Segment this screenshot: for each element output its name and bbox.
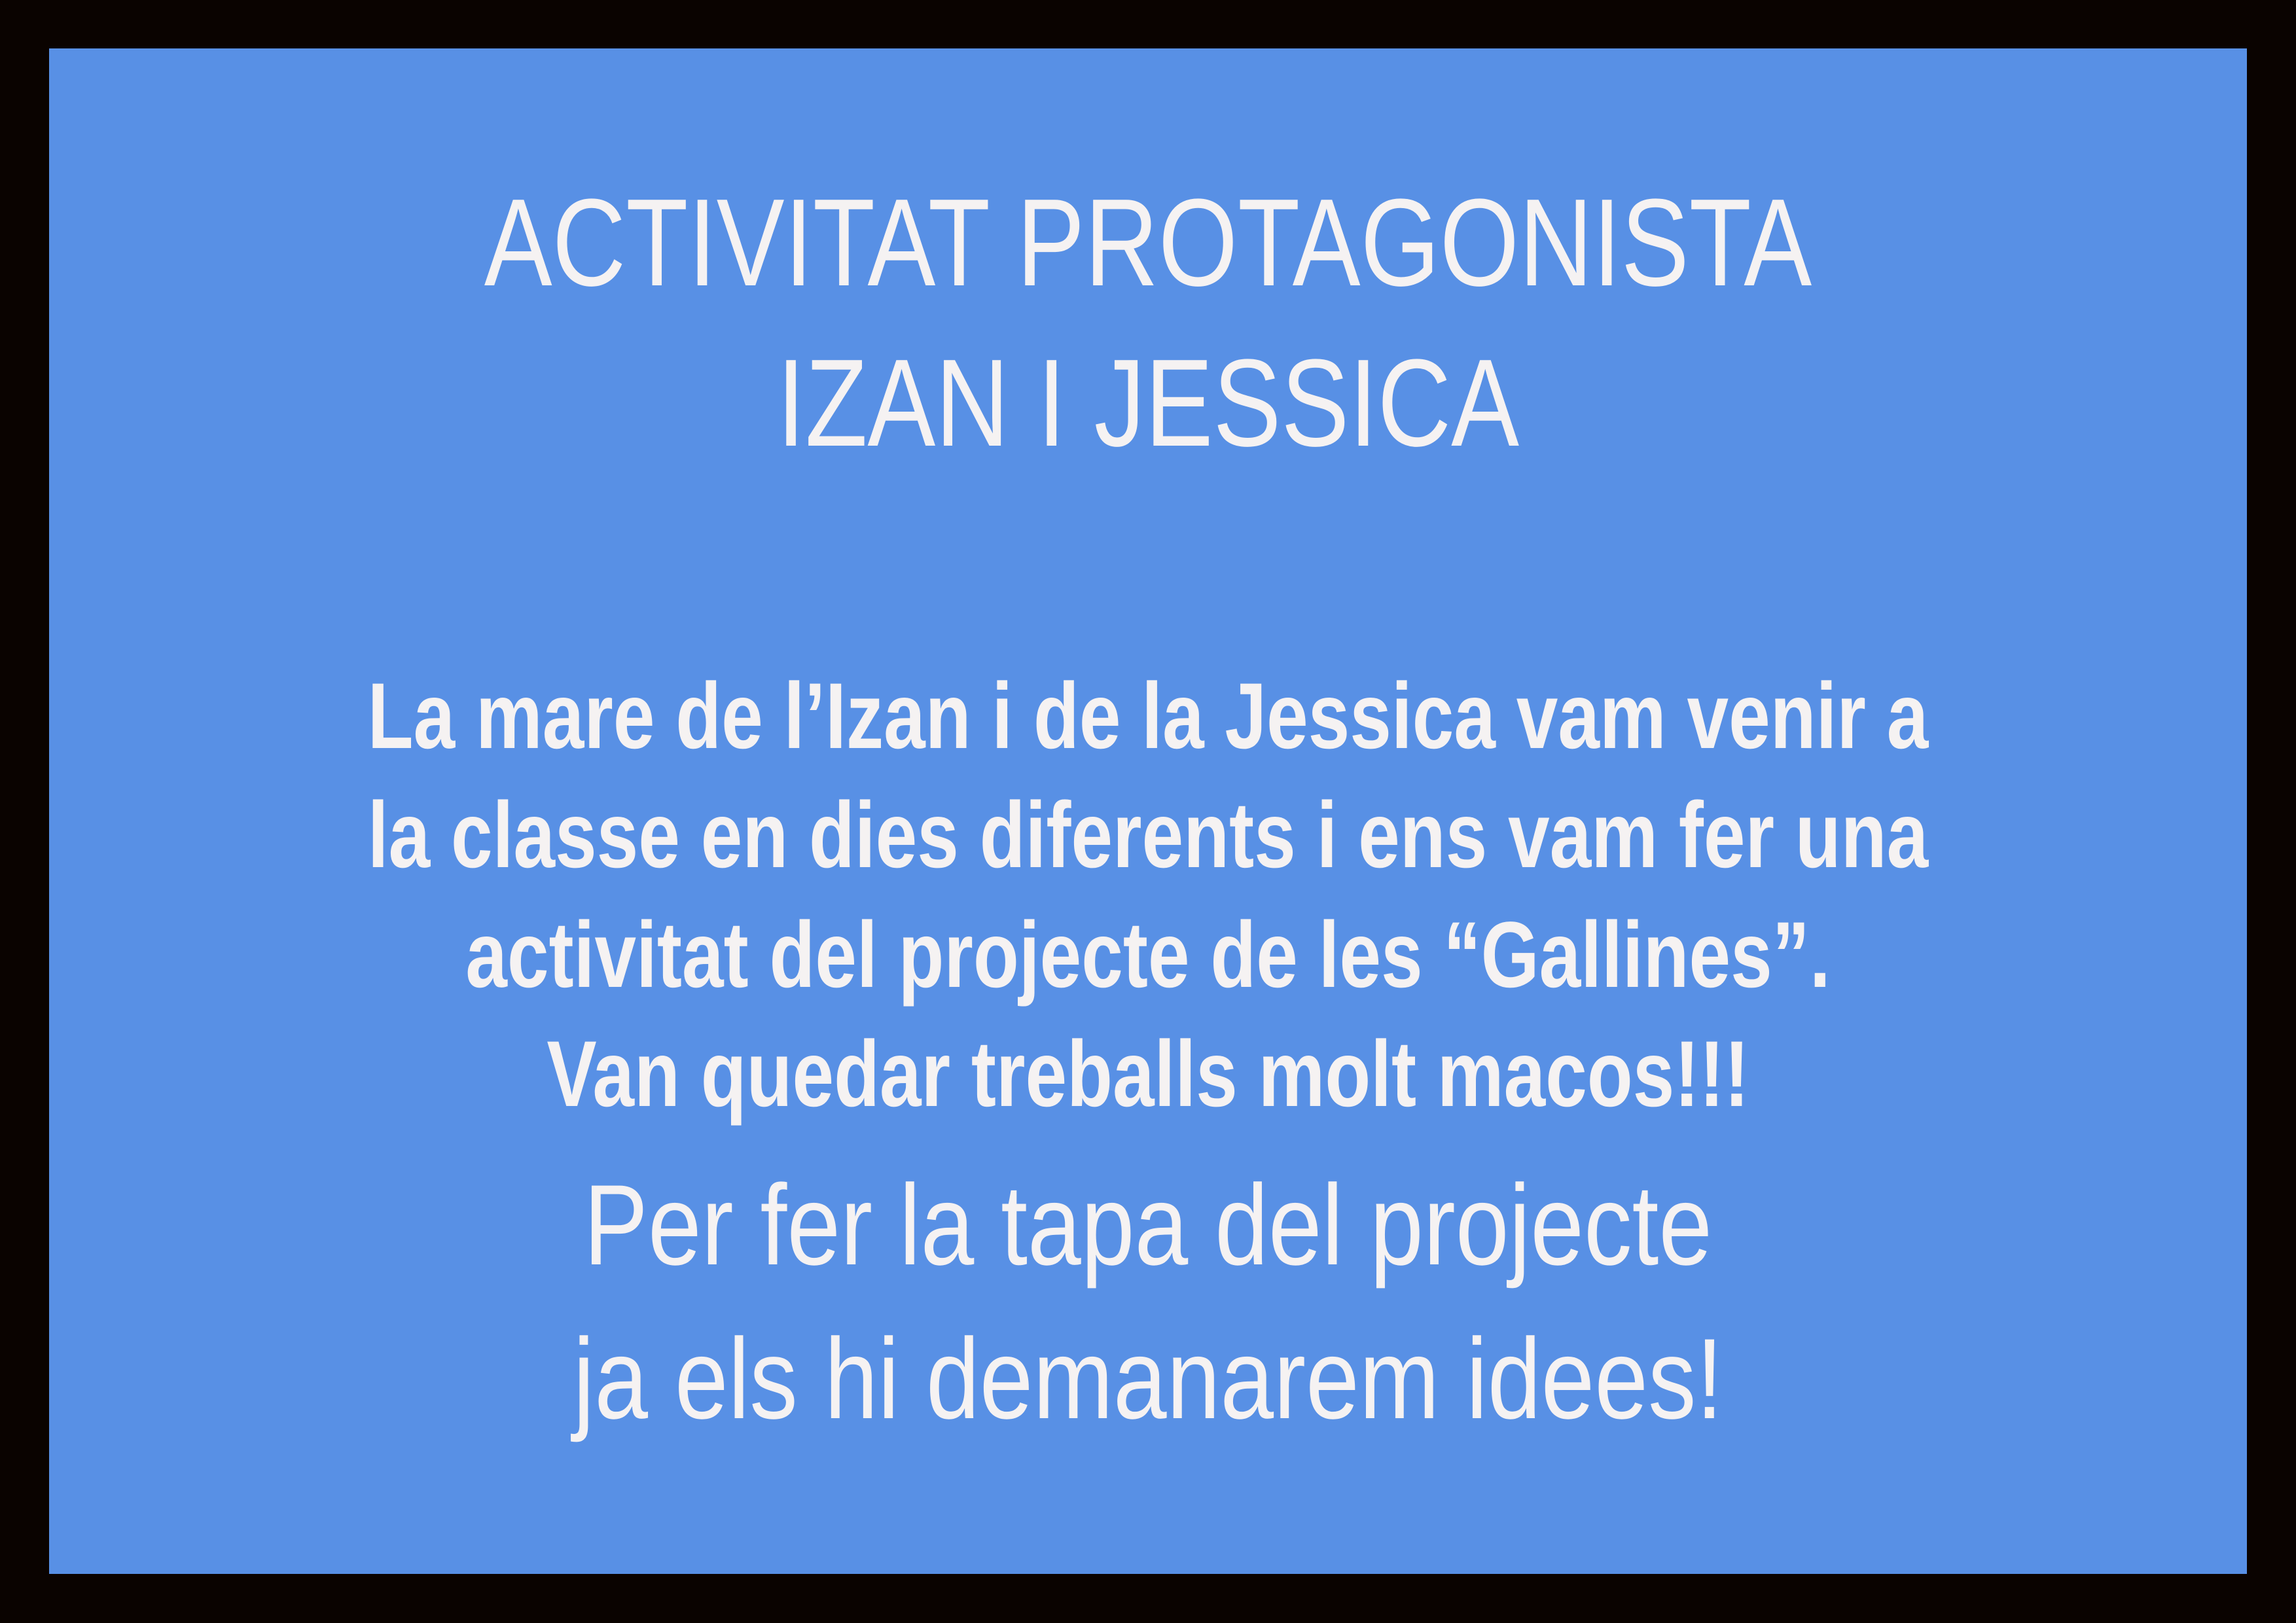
body-line-3: activitat del projecte de les “Gallines”… [269, 896, 2027, 1015]
slide-closing-statement: Per fer la tapa del projecte ja els hi d… [49, 1149, 2247, 1456]
body-line-4: Van quedar treballs molt macos!!! [269, 1015, 2027, 1134]
body-line-2: la classe en dies diferents i ens vam fe… [269, 776, 2027, 895]
slide-panel: ACTIVITAT PROTAGONISTA IZAN I JESSICA La… [49, 48, 2247, 1574]
closing-line-2: ja els hi demanarem idees! [225, 1303, 2072, 1457]
title-line-1: ACTIVITAT PROTAGONISTA [247, 163, 2049, 323]
slide-frame: ACTIVITAT PROTAGONISTA IZAN I JESSICA La… [0, 0, 2296, 1623]
slide-title: ACTIVITAT PROTAGONISTA IZAN I JESSICA [49, 163, 2247, 484]
body-line-1: La mare de l’Izan i de la Jessica vam ve… [269, 657, 2027, 776]
closing-line-1: Per fer la tapa del projecte [225, 1149, 2072, 1303]
title-line-2: IZAN I JESSICA [247, 323, 2049, 484]
slide-body-paragraph: La mare de l’Izan i de la Jessica vam ve… [49, 657, 2247, 1134]
